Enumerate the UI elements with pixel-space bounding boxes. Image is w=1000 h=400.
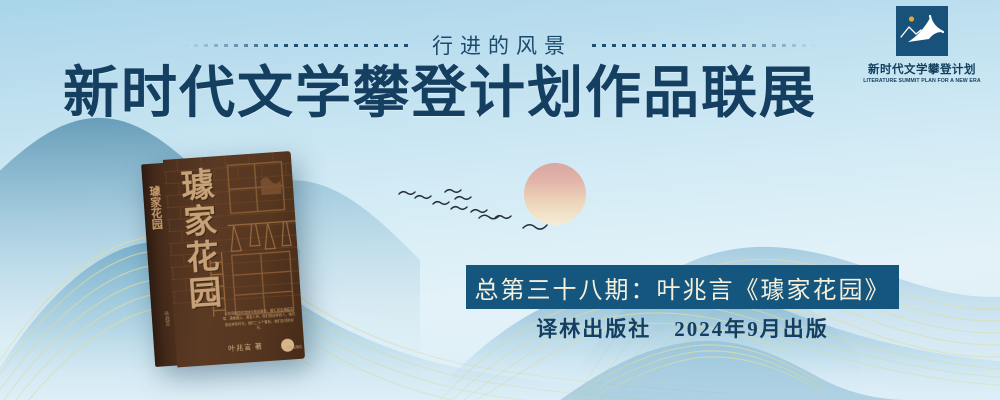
book-cover: 璩家花园 叶兆言 xyxy=(141,151,305,369)
issue-label-bar: 总第三十八期：叶兆言《璩家花园》 xyxy=(466,265,899,309)
logo-en-name: LITERATURE SUMMIT PLAN FOR A NEW ERA xyxy=(860,78,984,84)
dotted-rule-left xyxy=(184,44,414,47)
logo-cn-name: 新时代文学攀登计划 xyxy=(858,61,986,77)
mountain-peak-sun-icon xyxy=(896,6,948,56)
publisher-line: 译林出版社 2024年9月出版 xyxy=(466,313,899,343)
promotional-banner: 行进的风景 新时代文学攀登计划作品联展 新时代文学攀登计划 LITERATURE… xyxy=(0,0,1000,400)
book-spine-title: 璩家花园 xyxy=(146,185,165,230)
logo-sun-dot xyxy=(909,16,914,21)
kicker-row: 行进的风景 xyxy=(0,30,1000,60)
page-title: 新时代文学攀登计划作品联展 xyxy=(0,62,1000,126)
kicker-text: 行进的风景 xyxy=(428,30,572,60)
issue-label-text: 总第三十八期：叶兆言《璩家花园》 xyxy=(475,270,891,305)
book-front-face: 璩家花园 人世间的四时流转与悲欢离合，都汇成这满庭花草、满巷烟火、满室人声。他们… xyxy=(163,151,305,367)
dotted-rule-right xyxy=(586,44,816,47)
program-logo: 新时代文学攀登计划 LITERATURE SUMMIT PLAN FOR A N… xyxy=(858,6,986,84)
book-spine-author: 叶兆言 xyxy=(155,311,170,327)
